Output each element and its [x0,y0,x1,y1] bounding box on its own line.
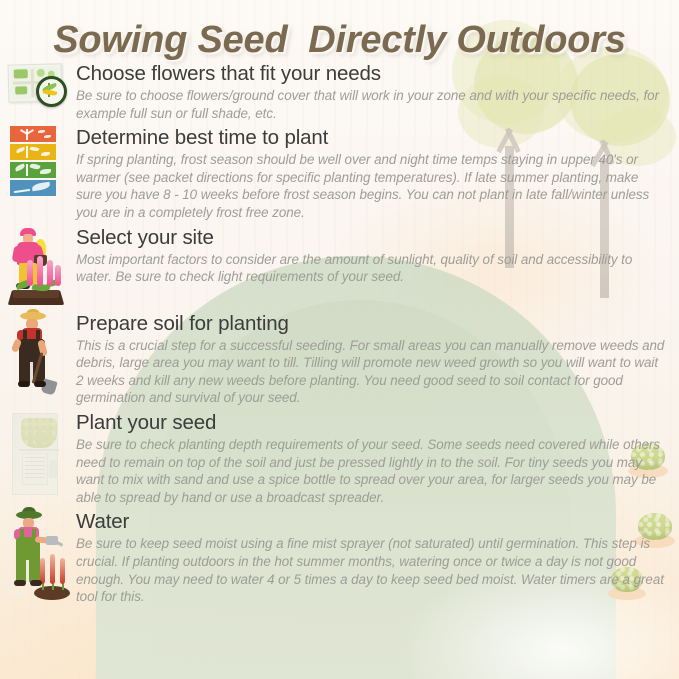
step-row: Plant your seed Be sure to check plantin… [0,411,679,506]
step-icon-slot [8,411,70,497]
step-text: Determine best time to plant If spring p… [76,126,665,221]
garden-plan-magnifier-icon [8,62,66,106]
step-body: If spring planting, frost season should … [76,151,665,221]
gardener-watering-icon [8,510,70,604]
step-heading: Prepare soil for planting [76,312,665,336]
step-row: Prepare soil for planting This is a cruc… [0,312,679,407]
step-body: Be sure to keep seed moist using a fine … [76,535,665,605]
page-title: Sowing Seed Directly Outdoors [0,18,679,62]
step-icon-slot [8,312,70,398]
step-row: Determine best time to plant If spring p… [0,126,679,221]
step-heading: Determine best time to plant [76,126,665,150]
step-text: Prepare soil for planting This is a cruc… [76,312,665,407]
step-body: Most important factors to consider are t… [76,251,665,286]
infographic-poster: Sowing Seed Directly Outdoors [0,0,679,679]
step-body: Be sure to choose flowers/ground cover t… [76,87,665,122]
step-icon-slot [8,510,70,604]
seed-packet-tray-icon [8,411,60,497]
step-text: Water Be sure to keep seed moist using a… [76,510,665,605]
step-row: Select your site Most important factors … [0,226,679,308]
step-heading: Choose flowers that fit your needs [76,62,665,86]
step-row: Water Be sure to keep seed moist using a… [0,510,679,605]
step-heading: Select your site [76,226,665,250]
step-text: Plant your seed Be sure to check plantin… [76,411,665,506]
steps-list: Choose flowers that fit your needs Be su… [0,62,679,610]
step-text: Choose flowers that fit your needs Be su… [76,62,665,122]
step-icon-slot [8,62,70,106]
four-seasons-bands-icon [10,126,56,200]
step-heading: Water [76,510,665,534]
step-body: Be sure to check planting depth requirem… [76,436,665,506]
step-icon-slot [8,126,70,200]
person-planting-flowers-icon [8,226,64,308]
step-icon-slot [8,226,70,308]
gardener-with-shovel-icon [8,312,62,398]
step-row: Choose flowers that fit your needs Be su… [0,62,679,122]
step-body: This is a crucial step for a successful … [76,337,665,407]
step-heading: Plant your seed [76,411,665,435]
step-text: Select your site Most important factors … [76,226,665,286]
